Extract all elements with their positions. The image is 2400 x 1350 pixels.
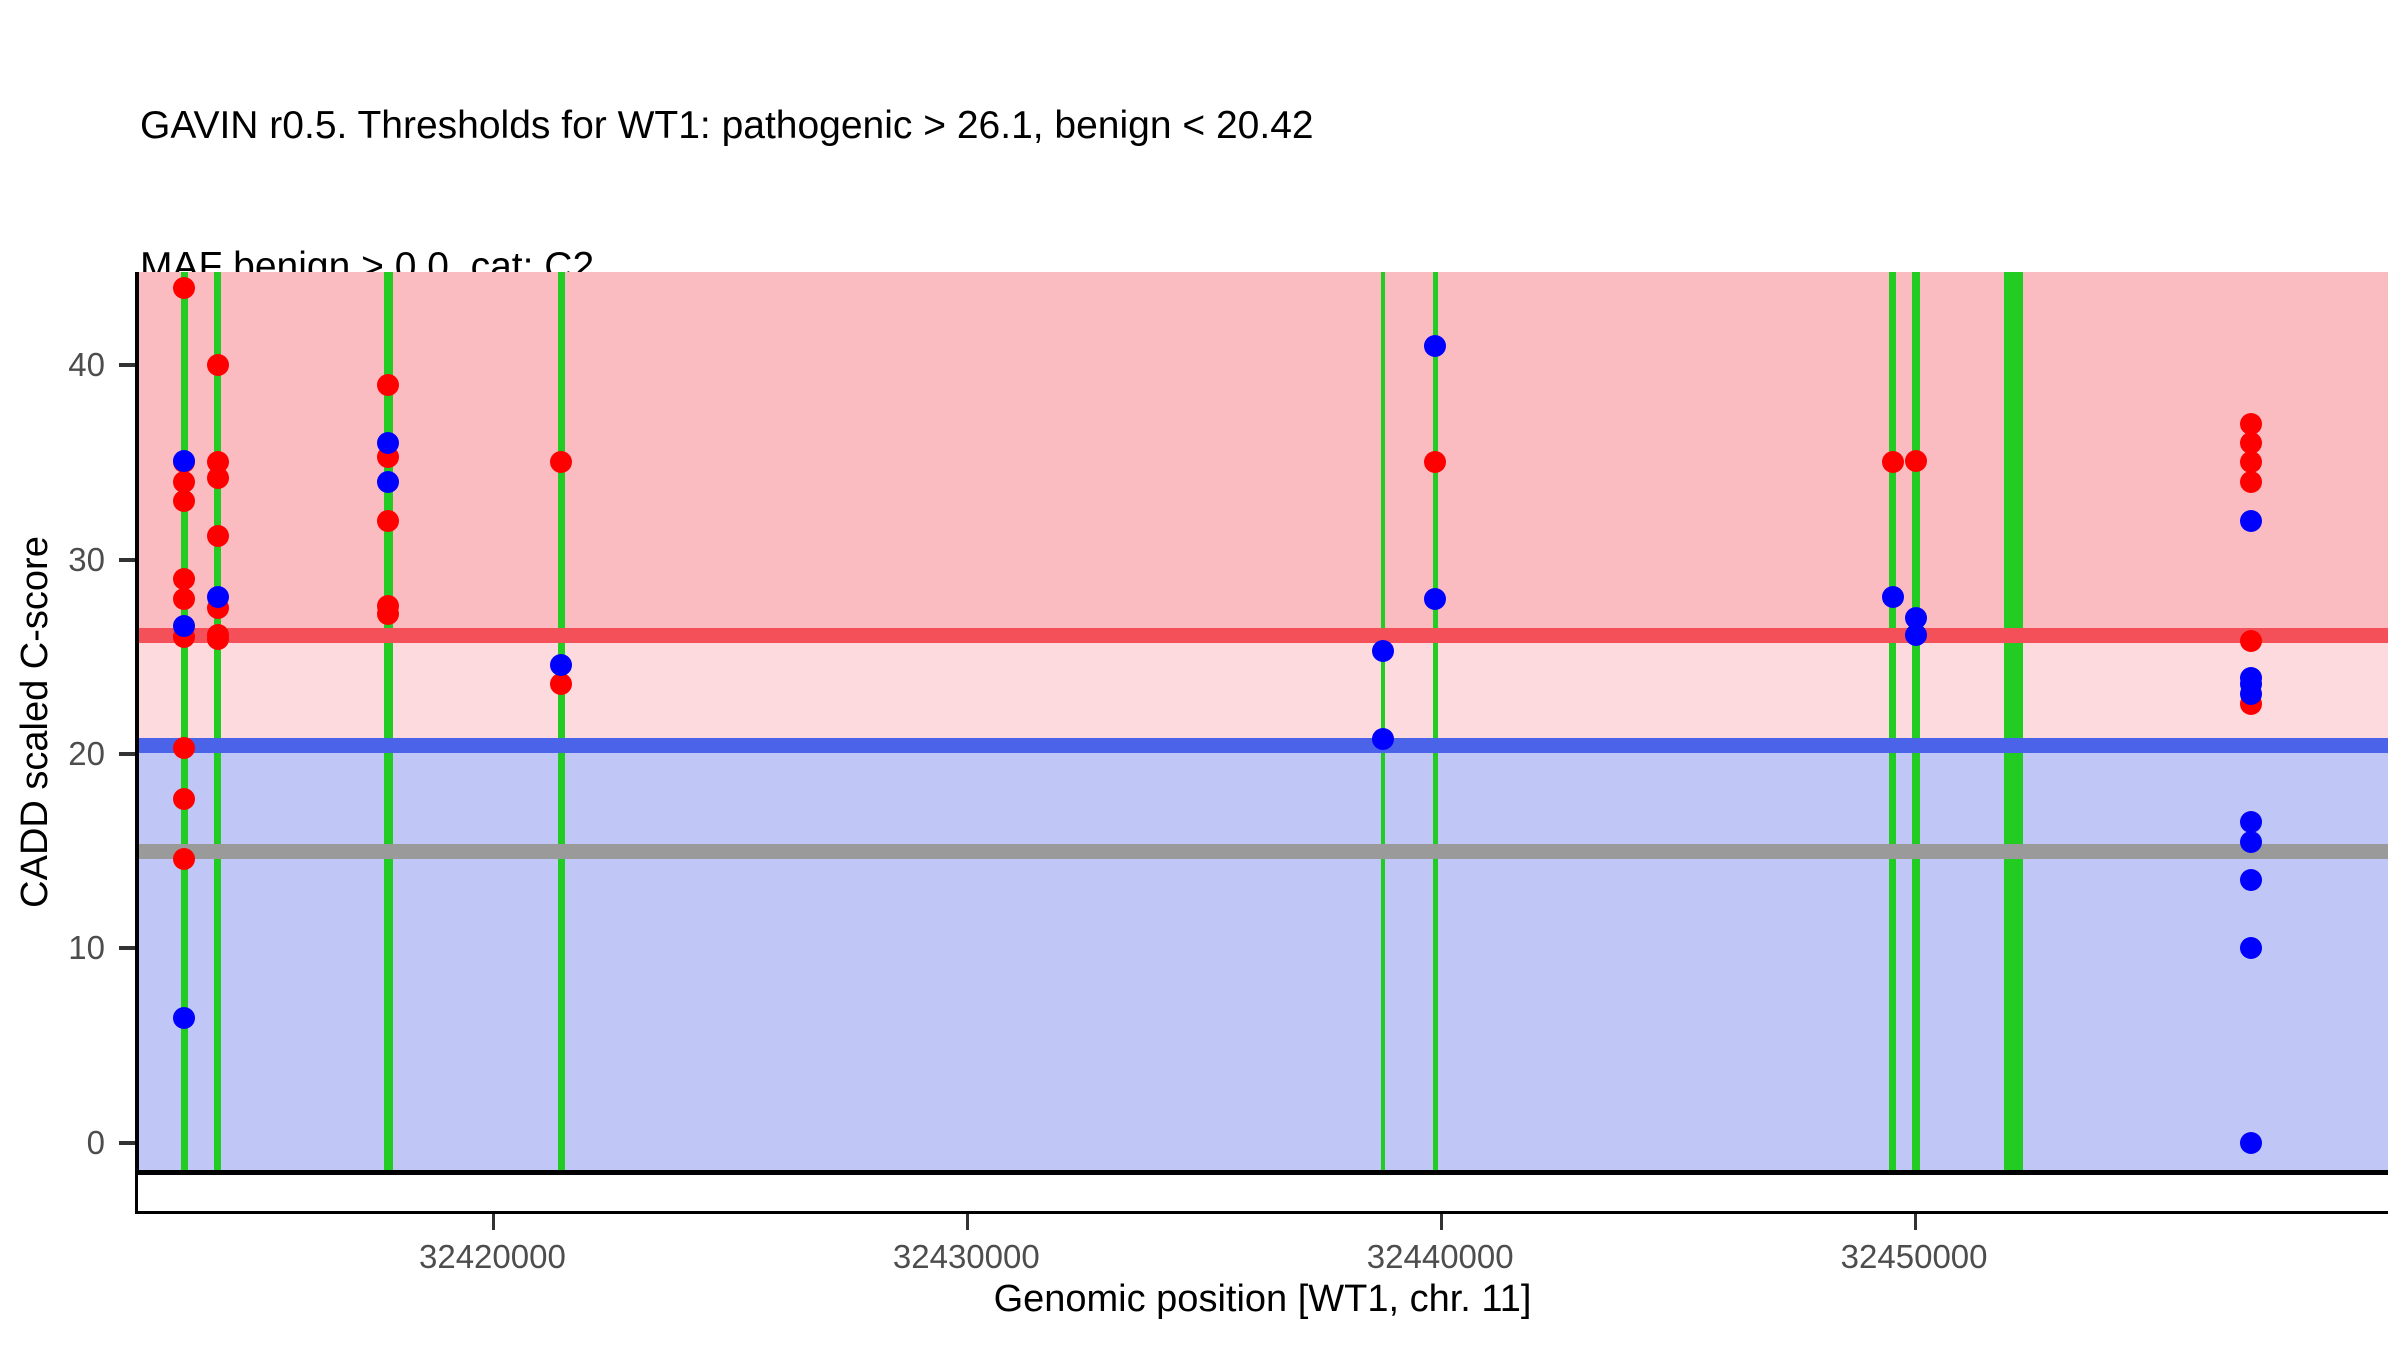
data-point — [2240, 471, 2262, 493]
x-tick-label: 32420000 — [419, 1238, 566, 1276]
y-tick-label: 40 — [68, 346, 105, 384]
refseq-exon-line — [2004, 272, 2023, 1172]
refseq-exon-line — [181, 272, 188, 1172]
data-point — [173, 450, 195, 472]
data-point — [377, 471, 399, 493]
y-tick-mark — [119, 946, 135, 950]
y-tick-mark — [119, 752, 135, 756]
y-tick-label: 20 — [68, 735, 105, 773]
data-point — [1424, 588, 1446, 610]
data-point — [2240, 630, 2262, 652]
plot-frame-bottom — [135, 1170, 2388, 1214]
x-tick-label: 32440000 — [1367, 1238, 1514, 1276]
refseq-exon-line — [1889, 272, 1896, 1172]
data-point — [2240, 831, 2262, 853]
refseq-exon-line — [214, 272, 221, 1172]
plot-area — [137, 272, 2388, 1172]
data-point — [207, 586, 229, 608]
y-tick-label: 0 — [87, 1124, 105, 1162]
data-point — [2240, 937, 2262, 959]
refseq-exon-line — [384, 272, 393, 1172]
x-tick-mark — [492, 1214, 495, 1230]
y-tick-mark — [119, 558, 135, 562]
data-point — [207, 354, 229, 376]
y-axis-label: CADD scaled C-score — [14, 272, 57, 1172]
data-point — [2240, 1132, 2262, 1154]
data-point — [2240, 869, 2262, 891]
data-point — [2240, 683, 2262, 705]
data-point — [207, 525, 229, 547]
x-tick-mark — [966, 1214, 969, 1230]
data-point — [2240, 510, 2262, 532]
x-axis-line — [135, 1170, 2388, 1175]
data-point — [377, 374, 399, 396]
data-point — [550, 654, 572, 676]
data-point — [1882, 586, 1904, 608]
chart-root: GAVIN r0.5. Thresholds for WT1: pathogen… — [0, 0, 2400, 1350]
data-point — [1372, 728, 1394, 750]
benign-threshold-line — [137, 738, 2388, 753]
x-tick-mark — [1440, 1214, 1443, 1230]
x-tick-label: 32430000 — [893, 1238, 1040, 1276]
refseq-exon-line — [1912, 272, 1920, 1172]
data-point — [173, 615, 195, 637]
data-point — [1905, 450, 1927, 472]
refseq-exon-line — [558, 272, 565, 1172]
genome-wide-fallback-line — [137, 844, 2388, 859]
y-tick-label: 30 — [68, 541, 105, 579]
refseq-exon-line — [1433, 272, 1438, 1172]
data-point — [173, 588, 195, 610]
data-point — [377, 510, 399, 532]
data-point — [207, 628, 229, 650]
data-point — [173, 277, 195, 299]
y-tick-label: 10 — [68, 929, 105, 967]
x-axis-label: Genomic position [WT1, chr. 11] — [137, 1278, 2388, 1321]
benign-region — [137, 746, 2388, 1172]
y-tick-mark — [119, 1141, 135, 1145]
pathogenic-threshold-line — [137, 628, 2388, 643]
x-tick-mark — [1914, 1214, 1917, 1230]
y-axis-line — [135, 272, 139, 1172]
title-line-1: GAVIN r0.5. Thresholds for WT1: pathogen… — [140, 102, 2340, 149]
data-point — [207, 467, 229, 489]
y-tick-mark — [119, 363, 135, 367]
pathogenic-region — [137, 272, 2388, 635]
x-tick-label: 32450000 — [1841, 1238, 1988, 1276]
data-point — [173, 788, 195, 810]
vus-region — [137, 635, 2388, 745]
data-point — [2240, 811, 2262, 833]
refseq-exon-line — [1381, 272, 1385, 1172]
